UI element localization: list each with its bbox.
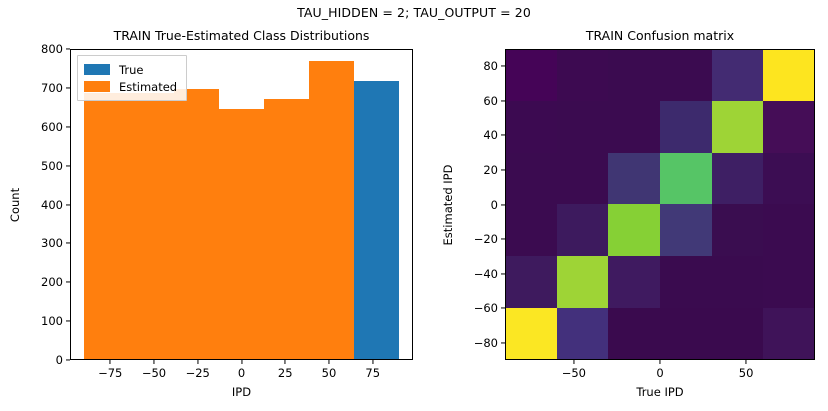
histogram-x-tick-label: 50 [322,366,337,380]
histogram-x-tick-label: 0 [238,366,245,380]
confusion-matrix-y-tick-mark [501,204,505,205]
histogram-x-tick-mark [285,360,286,364]
histogram-x-tick-mark [153,360,154,364]
confusion-matrix-frame [505,49,815,360]
histogram-x-tick-label: 75 [365,366,380,380]
legend-swatch-true [84,64,110,75]
histogram-y-tick-label: 700 [41,81,63,95]
histogram-x-tick-mark [328,360,329,364]
histogram-y-tick-label: 500 [41,159,63,173]
confusion-matrix-y-tick-label: 20 [483,163,498,177]
histogram-y-tick-label: 300 [41,236,63,250]
histogram-y-tick-mark [66,321,70,322]
confusion-matrix-y-tick-mark [501,239,505,240]
histogram-x-tick-mark [372,360,373,364]
legend-item-true: True [84,61,177,78]
histogram-y-tick-label: 600 [41,120,63,134]
figure-suptitle: TAU_HIDDEN = 2; TAU_OUTPUT = 20 [0,5,828,20]
histogram-title: TRAIN True-Estimated Class Distributions [70,28,413,43]
confusion-matrix-x-tick-mark [573,360,574,364]
confusion-matrix-y-tick-mark [501,342,505,343]
confusion-matrix-x-tick-label: 50 [739,366,754,380]
confusion-matrix-y-tick-mark [501,308,505,309]
histogram-y-tick-mark [66,359,70,360]
histogram-y-axis-label: Count [8,187,22,221]
confusion-matrix-y-axis-label: Estimated IPD [441,164,455,245]
confusion-matrix-x-tick-label: 0 [656,366,663,380]
confusion-matrix-y-tick-mark [501,273,505,274]
histogram-legend: True Estimated [77,55,187,101]
histogram-x-tick-mark [110,360,111,364]
histogram-y-tick-label: 200 [41,275,63,289]
confusion-matrix-y-tick-label: 60 [483,94,498,108]
confusion-matrix-y-tick-mark [501,135,505,136]
histogram-y-tick-mark [66,165,70,166]
histogram-x-tick-label: −50 [142,366,166,380]
histogram-y-tick-mark [66,87,70,88]
histogram-axes: TRAIN True-Estimated Class Distributions… [70,49,413,360]
histogram-y-tick-mark [66,126,70,127]
confusion-matrix-x-axis-label: True IPD [505,385,815,399]
histogram-y-tick-mark [66,282,70,283]
confusion-matrix-y-tick-label: −20 [474,232,498,246]
histogram-y-tick-label: 0 [56,353,63,367]
confusion-matrix-x-tick-label: −50 [562,366,586,380]
confusion-matrix-y-tick-label: 40 [483,128,498,142]
histogram-x-tick-label: −75 [98,366,122,380]
histogram-x-tick-label: 25 [278,366,293,380]
legend-label-estimated: Estimated [119,80,177,94]
legend-item-estimated: Estimated [84,78,177,95]
confusion-matrix-y-tick-mark [501,66,505,67]
histogram-y-tick-mark [66,48,70,49]
histogram-y-tick-label: 100 [41,314,63,328]
histogram-x-axis-label: IPD [70,385,413,399]
histogram-y-tick-mark [66,204,70,205]
histogram-y-tick-mark [66,243,70,244]
histogram-x-tick-label: −25 [186,366,210,380]
legend-label-true: True [119,63,143,77]
confusion-matrix-x-tick-mark [659,360,660,364]
histogram-y-tick-label: 800 [41,42,63,56]
confusion-matrix-y-tick-label: −60 [474,301,498,315]
histogram-x-tick-mark [241,360,242,364]
legend-swatch-estimated [84,81,110,92]
matplotlib-figure: TAU_HIDDEN = 2; TAU_OUTPUT = 20 TRAIN Tr… [0,0,828,411]
confusion-matrix-y-tick-mark [501,100,505,101]
confusion-matrix-y-tick-label: 80 [483,59,498,73]
confusion-matrix-y-tick-label: 0 [491,198,498,212]
confusion-matrix-y-tick-label: −80 [474,336,498,350]
confusion-matrix-x-tick-mark [746,360,747,364]
histogram-y-tick-label: 400 [41,198,63,212]
confusion-matrix-title: TRAIN Confusion matrix [505,28,815,43]
confusion-matrix-y-tick-mark [501,169,505,170]
confusion-matrix-axes: TRAIN Confusion matrix −80−60−40−2002040… [505,49,815,360]
histogram-x-tick-mark [197,360,198,364]
confusion-matrix-y-tick-label: −40 [474,267,498,281]
